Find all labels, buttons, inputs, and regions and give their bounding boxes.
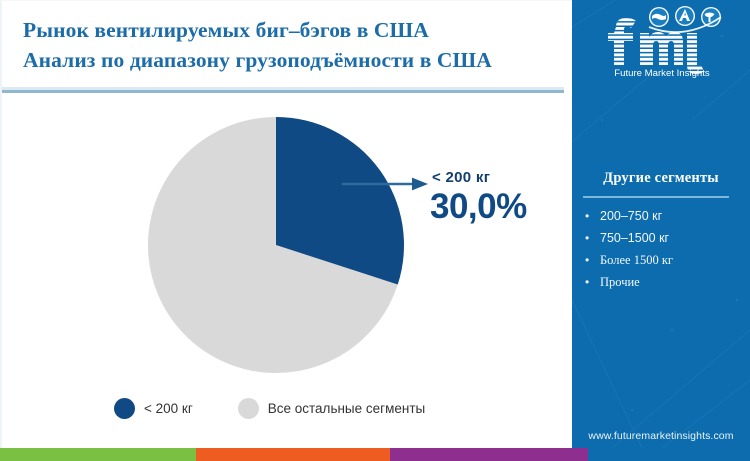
legend-dot-icon <box>238 398 259 419</box>
list-item: • 750–1500 кг <box>585 230 745 246</box>
colorbar-segment-blue <box>588 448 750 461</box>
colorbar-segment-green <box>0 448 196 461</box>
footer-colorbar <box>0 448 750 461</box>
list-item-label: 750–1500 кг <box>594 230 669 246</box>
pie-chart <box>147 116 405 374</box>
content-card: Рынок вентилируемых биг–бэгов в США Анал… <box>0 0 572 448</box>
infographic-canvas: Рынок вентилируемых биг–бэгов в США Анал… <box>0 0 750 461</box>
legend-item-under-200kg: < 200 кг <box>114 398 193 419</box>
list-item-label: Более 1500 кг <box>594 252 673 268</box>
pie-chart-svg <box>147 116 405 374</box>
arrow-right-icon <box>342 175 434 193</box>
callout-label: < 200 кг <box>430 169 560 186</box>
callout-value: 30,0% <box>430 188 560 226</box>
list-item: • 200–750 кг <box>585 208 745 224</box>
other-segments-divider <box>583 196 729 198</box>
legend-dot-icon <box>114 398 135 419</box>
list-item-label: Прочие <box>594 274 640 290</box>
chart-legend: < 200 кг Все остальные сегменты <box>114 397 425 419</box>
page-title-line-2: Анализ по диапазону грузоподъёмности в С… <box>23 45 563 75</box>
header: Рынок вентилируемых биг–бэгов в США Анал… <box>2 1 574 93</box>
list-item: • Прочие <box>585 274 745 290</box>
logo-tagline: Future Market Insights <box>614 68 710 79</box>
website-url[interactable]: www.futuremarketinsights.com <box>572 430 750 442</box>
header-divider <box>2 90 564 93</box>
list-item: • Более 1500 кг <box>585 252 745 268</box>
bullet-icon: • <box>585 252 594 268</box>
bullet-icon: • <box>585 274 594 290</box>
bullet-icon: • <box>585 208 594 224</box>
other-segments-heading: Другие сегменты <box>572 170 750 187</box>
callout-under-200kg: < 200 кг 30,0% <box>430 169 560 226</box>
legend-item-label: < 200 кг <box>144 401 193 416</box>
legend-item-label: Все остальные сегменты <box>268 401 425 416</box>
list-item-label: 200–750 кг <box>594 208 662 224</box>
side-panel: Future Market Insights Другие сегменты •… <box>572 0 750 448</box>
bullet-icon: • <box>585 230 594 246</box>
colorbar-segment-orange <box>196 448 390 461</box>
other-segments-list: • 200–750 кг • 750–1500 кг • Более 1500 … <box>585 208 745 296</box>
legend-item-all-other-segments: Все остальные сегменты <box>238 398 425 419</box>
page-title-line-1: Рынок вентилируемых биг–бэгов в США <box>23 15 563 45</box>
page-title: Рынок вентилируемых биг–бэгов в США Анал… <box>23 15 563 75</box>
colorbar-segment-purple <box>390 448 588 461</box>
fmi-logo: Future Market Insights <box>586 5 738 79</box>
